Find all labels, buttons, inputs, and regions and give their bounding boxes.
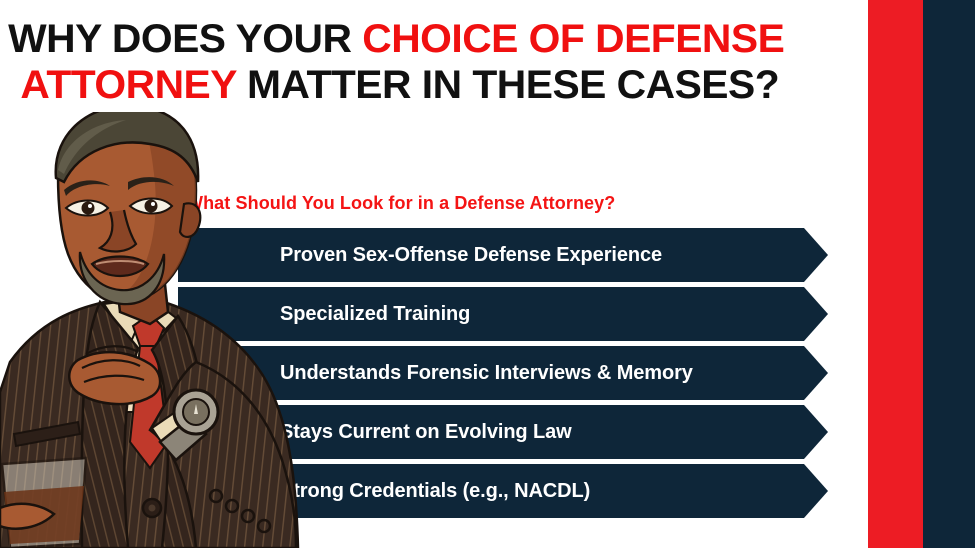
section-subtitle: What Should You Look for in a Defense At… — [186, 193, 615, 214]
eyes — [66, 199, 172, 216]
page-title-line-2-black: MATTER IN THESE CASES? — [236, 63, 779, 107]
criteria-banner-1: Proven Sex-Offense Defense Experience — [178, 228, 828, 282]
page-title-line-2: ATTORNEY MATTER IN THESE CASES? — [0, 66, 885, 105]
drinking-glass — [2, 458, 86, 548]
criteria-banner-3: Understands Forensic Interviews & Memory — [178, 346, 828, 400]
right-accent-bar-navy — [923, 0, 975, 548]
page-title-line-1-red: CHOICE OF DEFENSE — [362, 17, 784, 61]
infographic-slide: WHY DOES YOUR CHOICE OF DEFENSE ATTORNEY… — [0, 0, 975, 548]
criteria-banner-3-label: Understands Forensic Interviews & Memory — [178, 362, 693, 385]
attorney-criteria-list: Proven Sex-Offense Defense Experience Sp… — [178, 228, 828, 523]
page-title: WHY DOES YOUR CHOICE OF DEFENSE ATTORNEY… — [0, 20, 868, 105]
criteria-banner-2-label: Specialized Training — [178, 303, 470, 326]
page-title-line-1: WHY DOES YOUR CHOICE OF DEFENSE — [0, 20, 885, 59]
criteria-banner-5: Strong Credentials (e.g., NACDL) — [178, 464, 828, 518]
page-title-line-1-black: WHY DOES YOUR — [8, 17, 362, 61]
criteria-banner-1-label: Proven Sex-Offense Defense Experience — [178, 244, 662, 267]
criteria-banner-2: Specialized Training — [178, 287, 828, 341]
gesturing-hand — [69, 346, 160, 404]
criteria-banner-5-label: Strong Credentials (e.g., NACDL) — [178, 480, 590, 503]
page-title-line-2-red: ATTORNEY — [20, 63, 236, 107]
criteria-banner-4-label: Stays Current on Evolving Law — [178, 421, 572, 444]
criteria-banner-4: Stays Current on Evolving Law — [178, 405, 828, 459]
